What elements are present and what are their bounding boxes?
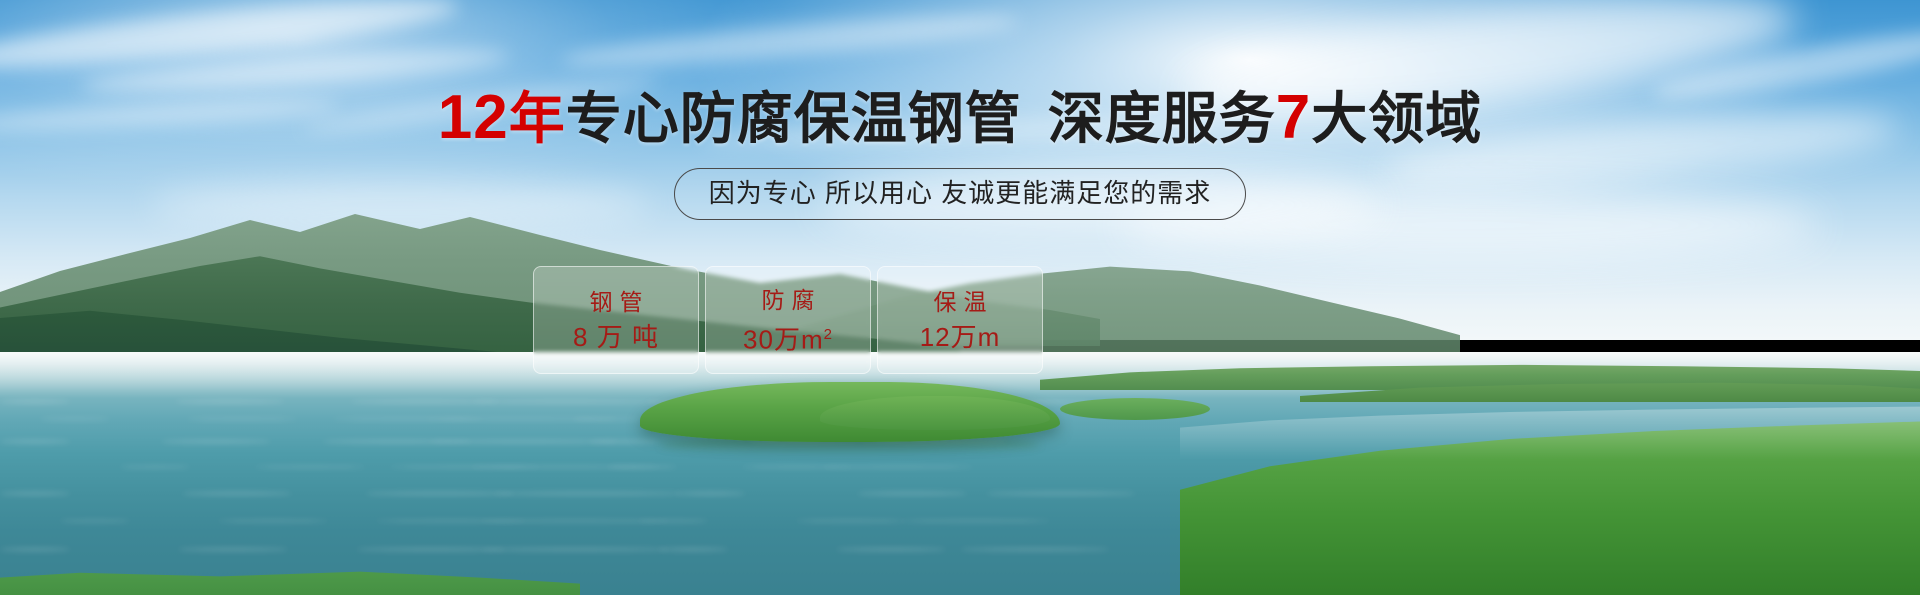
stat-card-value: 8 万 吨 (573, 323, 659, 351)
stat-card-label: 钢管 (583, 289, 650, 315)
water-ripple (607, 466, 677, 468)
stat-card-value-text: 30万m (743, 324, 824, 354)
water-ripple (823, 466, 973, 468)
water-ripple (120, 466, 190, 468)
headline-service-text: 深度服务 (1048, 87, 1276, 150)
water-ripple (675, 492, 745, 495)
water-ripple (471, 400, 661, 403)
water-ripple (572, 418, 642, 420)
water-ripple (0, 400, 70, 403)
stat-card-value-text: 8 万 吨 (573, 322, 659, 352)
stat-card[interactable]: 钢管 8 万 吨 (533, 266, 699, 374)
stat-card-value: 12万m (920, 323, 1001, 351)
stat-card-value: 30万m2 (743, 321, 833, 354)
stat-cards: 钢管 8 万 吨 防腐 30万m2 保温 12万m (533, 266, 1043, 374)
stat-card-value-sup: 2 (824, 326, 833, 343)
water-ripple (161, 440, 271, 443)
water-ripple (857, 492, 967, 495)
grass-bottom-fade (0, 520, 1920, 595)
hero-banner: 12年专心防腐保温钢管深度服务7大领域 因为专心 所以用心 友诚更能满足您的需求… (0, 0, 1920, 595)
water-ripple (255, 466, 365, 468)
banner-subtitle-wrap: 因为专心 所以用心 友诚更能满足您的需求 (0, 168, 1920, 220)
water-ripple (0, 492, 70, 495)
water-ripple (493, 492, 683, 495)
headline-fields-text: 大领域 (1311, 87, 1482, 150)
stat-card-label: 防腐 (755, 287, 822, 313)
banner-headline: 12年专心防腐保温钢管深度服务7大领域 (0, 88, 1920, 149)
water-ripple (986, 492, 1136, 495)
water-ripple (182, 492, 292, 495)
water-ripple (187, 418, 297, 420)
water-ripple (589, 440, 659, 443)
water-ripple (0, 440, 70, 443)
headline-years-unit: 年 (509, 87, 566, 150)
grass-islet (1060, 398, 1210, 420)
stat-card-value-text: 12万m (920, 322, 1001, 352)
banner-subtitle-pill: 因为专心 所以用心 友诚更能满足您的需求 (674, 168, 1246, 220)
water-ripple (175, 400, 285, 403)
stat-card[interactable]: 保温 12万m (877, 266, 1043, 374)
water-ripple (40, 418, 110, 420)
stat-card[interactable]: 防腐 30万m2 (705, 266, 871, 374)
headline-main-text: 专心防腐保温钢管 (566, 87, 1022, 150)
grass-island-secondary (820, 396, 1050, 430)
headline-years-number: 12 (438, 83, 509, 152)
headline-fields-number: 7 (1276, 83, 1311, 152)
stat-card-label: 保温 (927, 289, 994, 315)
